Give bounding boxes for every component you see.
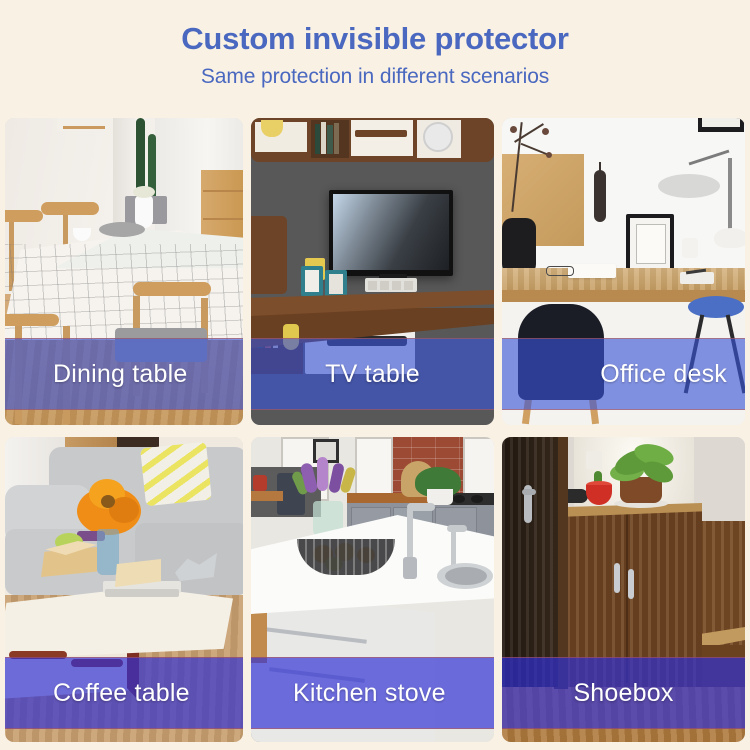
scenario-label-band: Dining table xyxy=(5,338,243,410)
scenario-card-dining-table[interactable]: Dining table xyxy=(5,118,243,425)
page-title: Custom invisible protector xyxy=(0,22,750,56)
scenario-label: TV table xyxy=(325,360,420,389)
scenario-label: Kitchen stove xyxy=(293,679,446,708)
page-subtitle: Same protection in different scenarios xyxy=(0,65,750,89)
scenario-label: Shoebox xyxy=(573,679,673,708)
scenario-grid: Dining table xyxy=(5,118,745,742)
scenario-card-coffee-table[interactable]: Coffee table xyxy=(5,437,243,742)
scenario-label: Coffee table xyxy=(53,679,190,708)
scenario-label-band: Coffee table xyxy=(5,657,243,729)
scenario-label-band: TV table xyxy=(251,338,494,410)
scenario-card-kitchen-stove[interactable]: Kitchen stove xyxy=(251,437,494,742)
page-header: Custom invisible protector Same protecti… xyxy=(0,0,750,89)
scenario-card-office-desk[interactable]: Office desk xyxy=(502,118,745,425)
scenario-label: Office desk xyxy=(600,360,727,389)
scenario-label-band: Office desk xyxy=(502,338,745,410)
scenario-label-band: Shoebox xyxy=(502,657,745,729)
scenario-label-band: Kitchen stove xyxy=(251,657,494,729)
scenario-card-tv-table[interactable]: TV table xyxy=(251,118,494,425)
scenario-label: Dining table xyxy=(53,360,187,389)
product-feature-page: Custom invisible protector Same protecti… xyxy=(0,0,750,750)
scenario-card-shoebox[interactable]: Shoebox xyxy=(502,437,745,742)
